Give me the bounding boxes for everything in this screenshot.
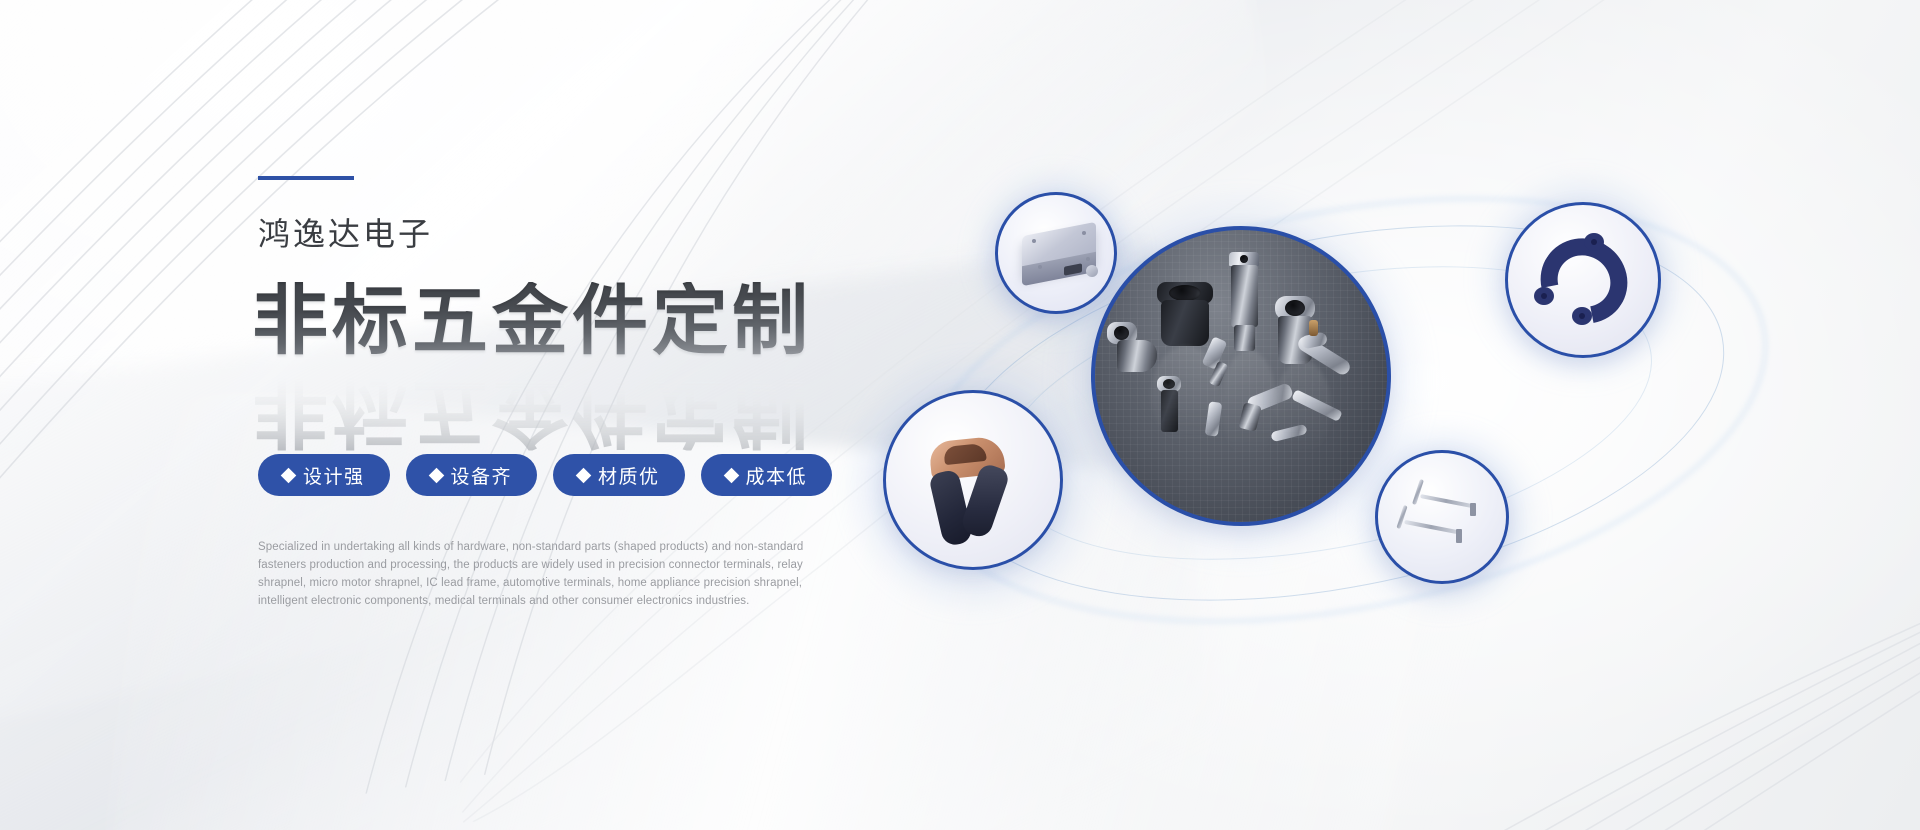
pin-lower-span — [1404, 520, 1458, 534]
product-bubble-bent-terminal-pins[interactable] — [1375, 450, 1509, 584]
floor-reflection — [1151, 346, 1221, 446]
part-bushing-body — [1161, 300, 1209, 346]
diamond-icon — [723, 467, 739, 483]
pin-upper-tip — [1470, 503, 1476, 516]
floor-reflection — [1275, 360, 1331, 456]
pin-lower-leg — [1396, 505, 1407, 529]
accent-rule — [258, 176, 354, 180]
feature-tag-label: 成本低 — [746, 462, 808, 489]
pin-upper-span — [1420, 494, 1472, 508]
product-bubble-metal-enclosure[interactable] — [995, 192, 1117, 314]
snap-ring-hole — [1579, 313, 1585, 319]
enclosure-screw — [1038, 265, 1042, 269]
feature-tag-label: 设备齐 — [451, 462, 513, 489]
part-socket-bore — [1285, 300, 1305, 316]
part-cylinder-shank — [1234, 325, 1255, 351]
feature-tag-label: 材质优 — [598, 462, 660, 489]
diamond-icon — [576, 467, 592, 483]
part-brass-tip — [1309, 320, 1318, 336]
feature-tag-design[interactable]: 设计强 — [258, 454, 390, 496]
pin-lower-tip — [1456, 529, 1462, 543]
hero-banner: 鸿逸达电子 非标五金件定制 非标五金件定制 设计强 设备齐 材质优 成本低 — [0, 0, 1920, 830]
feature-tag-list: 设计强 设备齐 材质优 成本低 — [258, 454, 918, 496]
part-bore — [1240, 255, 1248, 263]
hero-copy: 鸿逸达电子 非标五金件定制 非标五金件定制 设计强 设备齐 材质优 成本低 — [258, 176, 918, 611]
product-bubble-retaining-snap-ring[interactable] — [1505, 202, 1661, 358]
part-cylinder-body — [1231, 265, 1258, 327]
company-description: Specialized in undertaking all kinds of … — [258, 538, 824, 611]
product-showcase — [905, 150, 1805, 670]
page-title: 非标五金件定制 — [252, 282, 918, 363]
feature-tag-material[interactable]: 材质优 — [553, 454, 685, 496]
floor-reflection — [1221, 350, 1277, 460]
feature-tag-cost[interactable]: 成本低 — [701, 454, 833, 496]
snap-ring-hole — [1541, 293, 1547, 299]
feature-tag-label: 设计强 — [303, 462, 365, 489]
part-connector-bore — [1114, 326, 1129, 340]
snap-ring-hole — [1591, 239, 1597, 245]
enclosure-knob — [1086, 265, 1098, 277]
part-bushing-bore — [1169, 285, 1201, 301]
pin-upper-leg — [1412, 479, 1424, 505]
enclosure-screw — [1032, 239, 1036, 243]
part-connector-body — [1117, 340, 1157, 372]
headline-block: 非标五金件定制 非标五金件定制 — [252, 282, 918, 432]
enclosure-screw — [1082, 231, 1086, 235]
brand-name: 鸿逸达电子 — [258, 218, 918, 250]
feature-tag-equipment[interactable]: 设备齐 — [406, 454, 538, 496]
diamond-icon — [281, 467, 297, 483]
page-title-reflection: 非标五金件定制 — [252, 370, 812, 451]
product-bubble-main-hardware-parts[interactable] — [1091, 226, 1391, 526]
diamond-icon — [428, 467, 444, 483]
enclosure-screw — [1086, 257, 1090, 261]
